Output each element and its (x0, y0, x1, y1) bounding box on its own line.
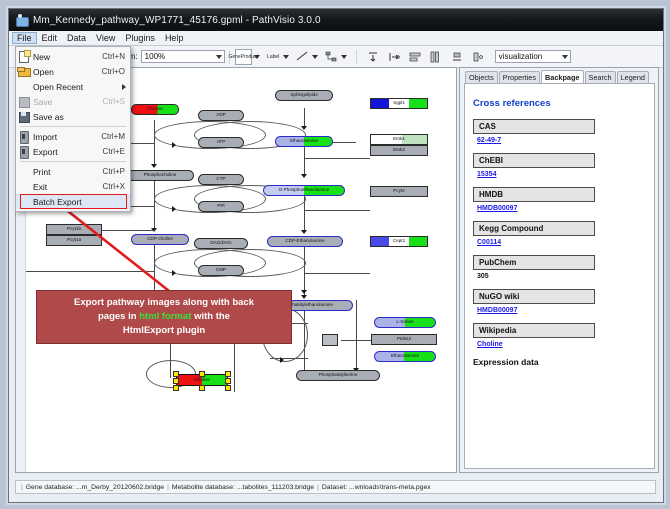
export-icon (16, 145, 33, 158)
xref-value-nugo-wiki[interactable]: HMDB00097 (477, 307, 654, 314)
visualization-combo[interactable]: visualization (495, 50, 571, 63)
xref-header-pubchem: PubChem (473, 255, 595, 270)
pathway-node-cmp[interactable]: CMP (198, 265, 244, 276)
new-document-icon (16, 50, 33, 63)
backpage-content: Cross references CAS 62-49-7 ChEBI 15354… (464, 83, 655, 469)
file-menu-item-open[interactable]: Open Ctrl+O (16, 64, 130, 79)
spacer-icon-2 (16, 165, 33, 178)
window-title: Mm_Kennedy_pathway_WP1771_45176.gpml - P… (33, 15, 321, 26)
pathway-node-sgpl1[interactable]: Sgpl1 (370, 98, 428, 109)
arrowhead (172, 142, 176, 148)
file-menu-item-new[interactable]: New Ctrl+N (16, 49, 130, 64)
pathway-node-l-serine[interactable]: L-Serine (374, 317, 436, 328)
xref-header-cas: CAS (473, 119, 595, 134)
tab-objects[interactable]: Objects (465, 71, 498, 83)
pathway-node-pcyt1b[interactable]: Pcyt1b (46, 224, 102, 235)
pathvisio-window: Mm_Kennedy_pathway_WP1771_45176.gpml - P… (8, 8, 664, 503)
status-metabolite-database-value: ...tabolites_111203.bridge (237, 484, 314, 491)
tab-properties[interactable]: Properties (499, 71, 540, 83)
xref-value-hmdb[interactable]: HMDB00097 (477, 205, 654, 212)
pathway-node-ethanolamine-2[interactable]: Ethanolamine (374, 351, 436, 362)
menu-separator-2 (20, 161, 126, 162)
pathvisio-app-icon (15, 14, 28, 27)
align-left-button[interactable] (387, 50, 402, 64)
status-dataset-label: Dataset: (322, 484, 347, 491)
pathway-node-dag-dag[interactable]: DAG/DAG (194, 238, 248, 249)
arrowhead (151, 164, 157, 168)
menu-data[interactable]: Data (62, 32, 91, 44)
side-panel-tabs: Objects Properties Backpage Search Legen… (460, 68, 658, 83)
open-folder-icon (16, 65, 33, 78)
status-gene-database-label: Gene database: (26, 484, 74, 491)
connector (154, 243, 155, 297)
same-width-button[interactable] (408, 50, 423, 64)
xref-header-nugo-wiki: NuGO wiki (473, 289, 595, 304)
interaction-button[interactable] (324, 50, 339, 64)
pathway-node-o-phosphoethanolamine[interactable]: O-Phosphoethanolamine (263, 185, 345, 196)
arrowhead (280, 357, 284, 363)
status-divider-3: | (314, 484, 322, 491)
line-dropdown-icon[interactable] (312, 55, 318, 59)
arrowhead (172, 270, 176, 276)
xref-header-kegg-compound: Kegg Compound (473, 221, 595, 236)
menu-view[interactable]: View (91, 32, 120, 44)
visualization-value: visualization (499, 52, 543, 61)
annotation-line-3: HtmlExport plugin (74, 324, 254, 338)
spacer-icon-3 (16, 180, 33, 193)
label-dropdown-icon[interactable] (283, 55, 289, 59)
arrowhead (301, 295, 307, 299)
save-disabled-icon (16, 95, 33, 108)
group-button[interactable] (471, 50, 486, 64)
status-bar: | Gene database: ...m_Derby_20120602.bri… (15, 480, 656, 494)
menu-plugins[interactable]: Plugins (120, 32, 160, 44)
batch-export-highlight-box (20, 194, 127, 209)
pathway-node-etnk1[interactable]: Etnk1 (370, 134, 428, 145)
pathway-node-sphingolipids[interactable]: Sphingolipids (275, 90, 333, 101)
pathway-node-adp[interactable]: ADP (198, 110, 244, 121)
same-height-button[interactable] (429, 50, 444, 64)
save-as-icon (16, 110, 33, 123)
arrowhead (301, 174, 307, 178)
arrowhead (301, 290, 307, 294)
label-button-label: Label (267, 54, 279, 60)
connector (26, 271, 154, 272)
pathway-node-ethanolamine-1[interactable]: Ethanolamine (275, 136, 333, 147)
menu-file[interactable]: File (12, 32, 37, 44)
connector (304, 108, 305, 128)
side-panel: Objects Properties Backpage Search Legen… (459, 67, 659, 473)
menu-separator (20, 126, 126, 127)
pathway-node-cept1[interactable]: Cept1 (370, 236, 428, 247)
line-button[interactable] (295, 50, 310, 64)
connector (356, 300, 357, 372)
pathway-node-ptdss2[interactable]: Ptdss2 (371, 334, 437, 345)
pathway-node-pcyt2[interactable]: Pcyt2 (370, 186, 428, 197)
arrowhead (172, 206, 176, 212)
connector (304, 273, 370, 274)
label-button[interactable]: Label (266, 50, 281, 64)
expression-data-heading: Expression data (473, 357, 654, 367)
tab-backpage[interactable]: Backpage (541, 70, 583, 83)
xref-header-wikipedia: Wikipedia (473, 323, 595, 338)
status-gene-database-value: ...m_Derby_20120602.bridge (76, 484, 164, 491)
annotation-line-2-post: with the (191, 311, 230, 322)
xref-value-chebi[interactable]: 15354 (477, 171, 654, 178)
spacer-icon (16, 80, 33, 93)
pathway-node-ppi[interactable]: PPi (198, 201, 244, 212)
annotation-line-2: pages in html format with the (74, 310, 254, 324)
pathway-node-cdp-ethanolamine[interactable]: CDP-Ethanolamine (267, 236, 343, 247)
connector (304, 158, 370, 159)
file-menu-item-open-recent[interactable]: Open Recent (16, 79, 130, 94)
stack-button[interactable] (450, 50, 465, 64)
datanode-label: GeneProduct (228, 54, 257, 60)
align-top-button[interactable] (366, 50, 381, 64)
status-divider: | (18, 484, 26, 491)
zoom-combo[interactable]: 100% (141, 50, 225, 63)
file-menu-dropdown[interactable]: New Ctrl+N Open Ctrl+O Open Recent Save … (15, 46, 131, 212)
status-divider-2: | (164, 484, 172, 491)
status-metabolite-database-label: Metabolite database: (172, 484, 235, 491)
file-menu-item-export[interactable]: Export Ctrl+E (16, 144, 130, 159)
xref-value-wikipedia[interactable]: Choline (477, 341, 654, 348)
tab-search[interactable]: Search (585, 71, 616, 83)
chevron-down-icon (216, 55, 222, 59)
status-dataset-value: ...wnloads\trans-meta.pgex (349, 484, 431, 491)
connector (304, 210, 370, 211)
file-menu-item-save: Save Ctrl+S (16, 94, 130, 109)
arrowhead (301, 230, 307, 234)
file-menu-item-exit[interactable]: Exit Ctrl+X (16, 179, 130, 194)
xref-value-pubchem: 305 (477, 273, 654, 280)
pathway-node-anchor[interactable] (322, 334, 338, 346)
chevron-down-icon-2 (562, 55, 568, 59)
connector (102, 230, 154, 231)
annotation-highlight: html format (139, 311, 191, 322)
tab-legend[interactable]: Legend (617, 71, 649, 83)
annotation-line-2-pre: pages in (98, 311, 139, 322)
xref-value-kegg-compound[interactable]: C00114 (477, 239, 654, 246)
chevron-right-icon (122, 84, 126, 90)
file-menu-item-import[interactable]: Import Ctrl+M (16, 129, 130, 144)
menu-help[interactable]: Help (160, 32, 189, 44)
connector (341, 340, 371, 341)
menu-edit[interactable]: Edit (37, 32, 63, 44)
annotation-line-1: Export pathway images along with back (74, 296, 254, 310)
import-icon (16, 130, 33, 143)
xref-header-hmdb: HMDB (473, 187, 595, 202)
file-menu-item-batch-export[interactable]: Batch Export (16, 194, 130, 209)
cross-references-heading: Cross references (473, 98, 654, 109)
pathway-node-atp[interactable]: ATP (198, 137, 244, 148)
datanode-button[interactable]: GeneProduct (235, 49, 252, 65)
pathway-node-phosphatidylserine[interactable]: Phosphatidylserine (296, 370, 380, 381)
pathway-node-choline-top[interactable]: Choline (131, 104, 179, 115)
xref-header-chebi: ChEBI (473, 153, 595, 168)
pathway-node-etnk2[interactable]: Etnk2 (370, 145, 428, 156)
file-menu-item-save-as[interactable]: Save as (16, 109, 130, 124)
pathway-node-ctp[interactable]: CTP (198, 174, 244, 185)
annotation-box: Export pathway images along with back pa… (36, 290, 292, 344)
interaction-dropdown-icon[interactable] (341, 55, 347, 59)
xref-value-cas[interactable]: 62-49-7 (477, 137, 654, 144)
menu-bar: File Edit Data View Plugins Help (9, 31, 663, 46)
toolbar-separator-2 (356, 50, 357, 64)
pathway-node-pcyt1a[interactable]: Pcyt1a (46, 235, 102, 246)
zoom-value: 100% (145, 52, 165, 61)
pathway-node-phosphocholine[interactable]: Phosphocholine (126, 170, 194, 181)
connector (154, 178, 155, 230)
connector (154, 120, 155, 166)
title-bar: Mm_Kennedy_pathway_WP1771_45176.gpml - P… (9, 9, 663, 31)
pathway-node-cdp-choline[interactable]: CDP-choline (131, 234, 189, 245)
file-menu-item-print[interactable]: Print Ctrl+P (16, 164, 130, 179)
